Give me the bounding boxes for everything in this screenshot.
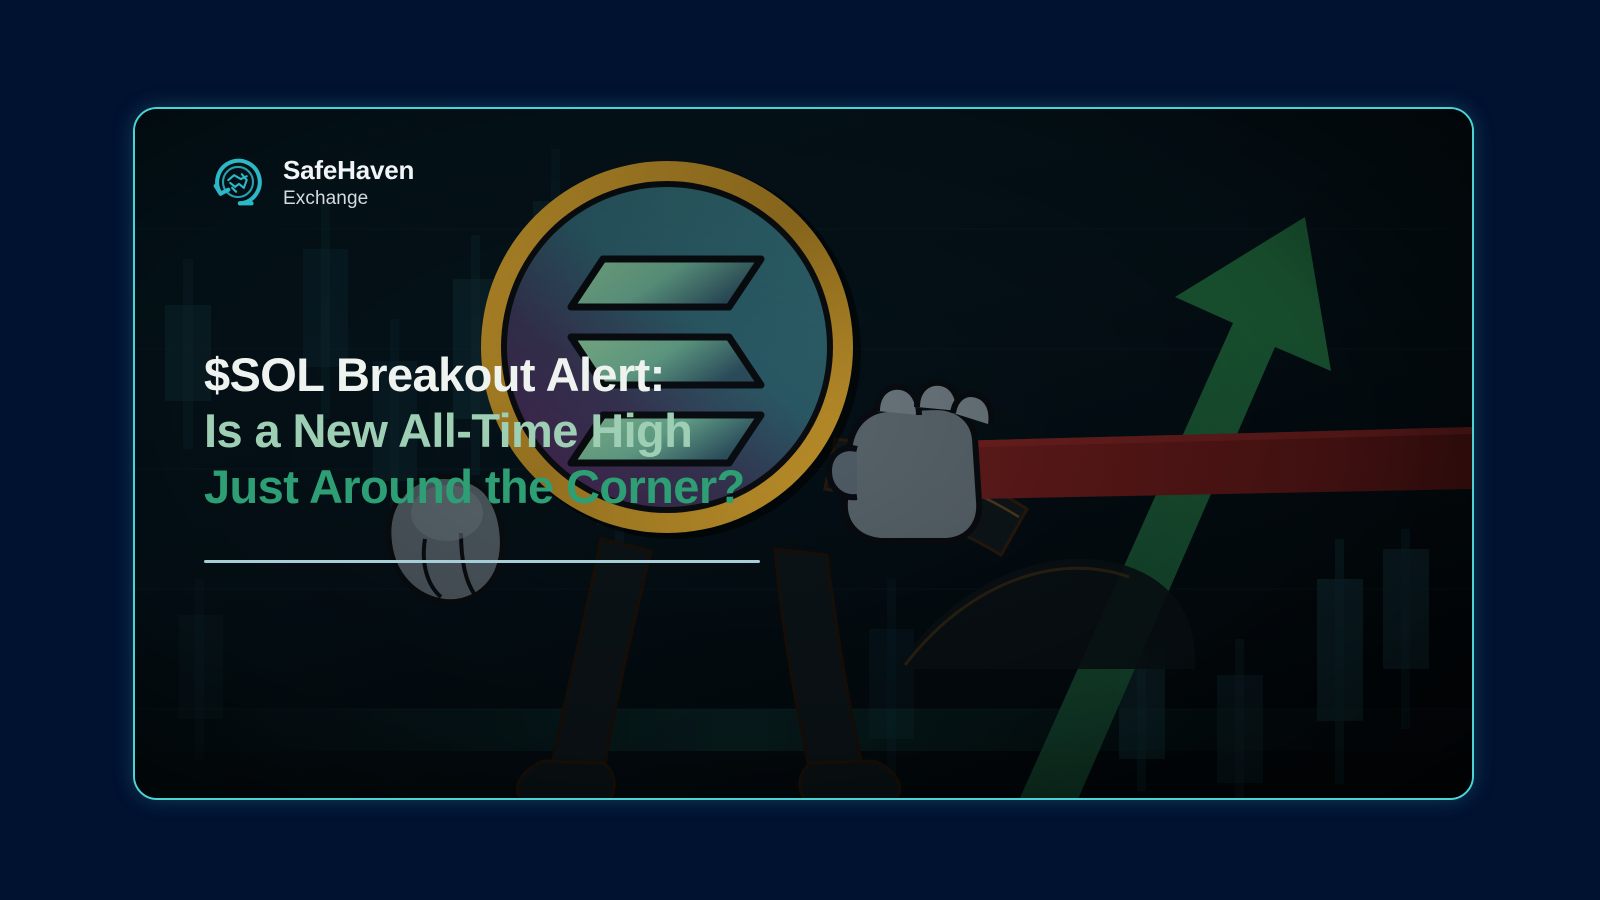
headline-line-1: $SOL Breakout Alert:	[204, 347, 745, 403]
brand-name: SafeHaven	[283, 157, 414, 183]
headline-block: $SOL Breakout Alert: Is a New All-Time H…	[204, 347, 745, 515]
page-background: SafeHaven Exchange $SOL Breakout Alert: …	[0, 0, 1600, 900]
brand-subtitle: Exchange	[283, 189, 414, 208]
headline-line-2: Is a New All-Time High	[204, 403, 745, 459]
banner-card: SafeHaven Exchange $SOL Breakout Alert: …	[133, 107, 1474, 800]
brand-logo-lockup[interactable]: SafeHaven Exchange	[207, 151, 414, 213]
brand-text: SafeHaven Exchange	[283, 157, 414, 208]
circular-arrow-handshake-logo-icon	[207, 151, 269, 213]
headline-divider	[204, 560, 760, 563]
headline-line-3: Just Around the Corner?	[204, 459, 745, 515]
